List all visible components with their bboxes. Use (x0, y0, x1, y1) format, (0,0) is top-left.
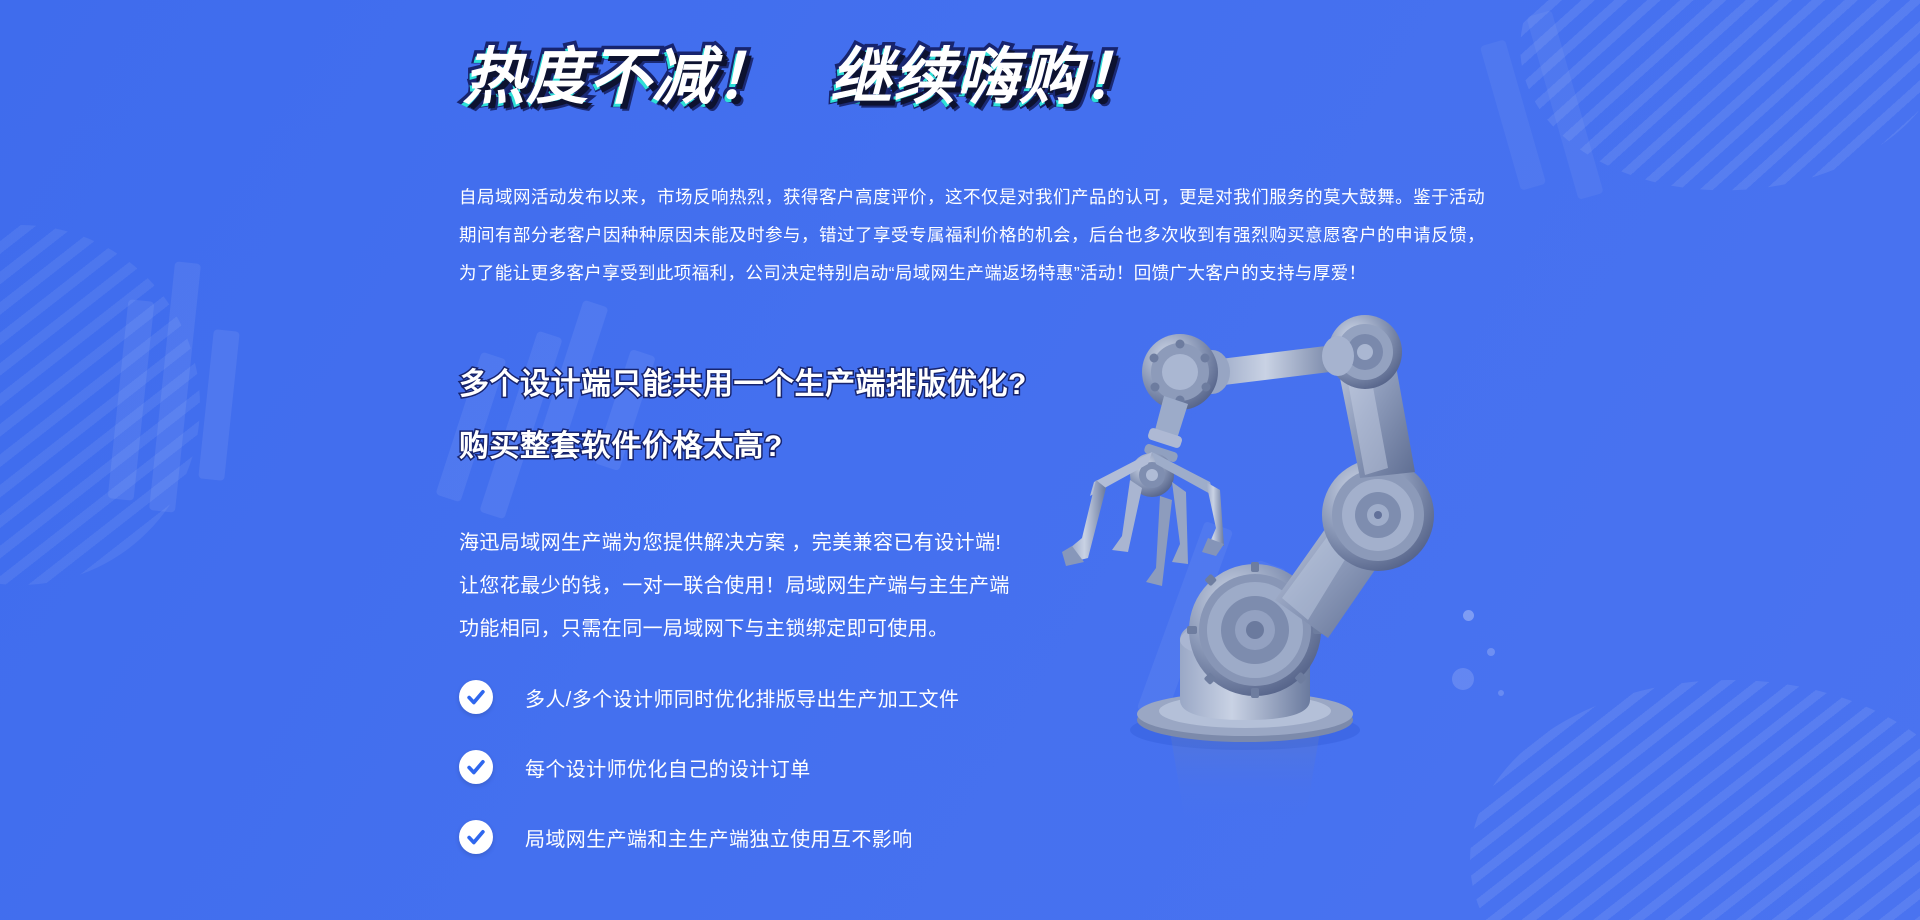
hero-title-part-2: 继续嗨购！ (830, 47, 1145, 109)
list-item-label: 每个设计师优化自己的设计订单 (525, 753, 811, 782)
description-line-2: 让您花最少的钱，一对一联合使用！局域网生产端与主生产端 (459, 565, 1010, 608)
check-circle-icon (459, 750, 493, 784)
description-block: 海迅局域网生产端为您提供解决方案 ，完美兼容已有设计端! 让您花最少的钱，一对一… (459, 522, 1010, 651)
list-item: 每个设计师优化自己的设计订单 (459, 750, 959, 784)
hero-content: 热度不减！ 继续嗨购！ 自局域网活动发布以来，市场反响热烈，获得客户高度评价，这… (455, 0, 1515, 920)
check-circle-icon (459, 820, 493, 854)
description-line-3: 功能相同，只需在同一局域网下与主锁绑定即可使用。 (459, 608, 1010, 651)
subheading-1: 多个设计端只能共用一个生产端排版优化? (459, 370, 1027, 400)
list-item: 多人/多个设计师同时优化排版导出生产加工文件 (459, 680, 959, 714)
subheading-2: 购买整套软件价格太高? (459, 432, 1027, 462)
hero-title: 热度不减！ 继续嗨购！ (463, 47, 1145, 109)
lead-paragraph: 自局域网活动发布以来，市场反响热烈，获得客户高度评价，这不仅是对我们产品的认可，… (459, 178, 1485, 292)
list-item: 局域网生产端和主生产端独立使用互不影响 (459, 820, 959, 854)
feature-list: 多人/多个设计师同时优化排版导出生产加工文件 每个设计师优化自己的设计订单 局域… (459, 680, 959, 890)
list-item-label: 局域网生产端和主生产端独立使用互不影响 (525, 823, 913, 852)
list-item-label: 多人/多个设计师同时优化排版导出生产加工文件 (525, 683, 959, 712)
subheading-group: 多个设计端只能共用一个生产端排版优化? 购买整套软件价格太高? (459, 370, 1027, 494)
description-line-1: 海迅局域网生产端为您提供解决方案 ，完美兼容已有设计端! (459, 522, 1010, 565)
check-circle-icon (459, 680, 493, 714)
hero-title-part-1: 热度不减！ (463, 47, 778, 109)
